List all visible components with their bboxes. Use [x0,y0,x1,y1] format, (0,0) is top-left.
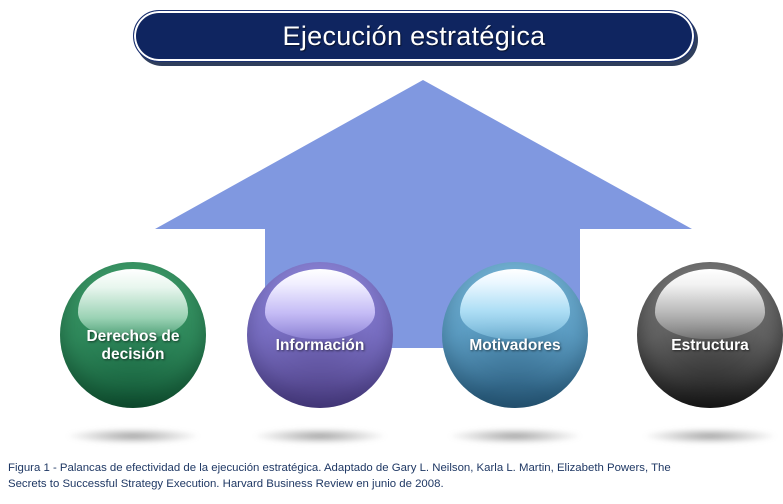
pillar-derechos-de-decision[interactable]: Derechos de decisión [60,262,206,408]
pillar-estructura[interactable]: Estructura [637,262,783,408]
figure-caption-line1: Figura 1 - Palancas de efectividad de la… [8,461,774,477]
sphere-shadow [644,428,776,444]
pillar-label-line2: decisión [102,346,165,363]
pillar-label: Motivadores [461,337,568,355]
page-title: Ejecución estratégica [283,21,546,52]
pillar-label: Derechos de decisión [78,328,187,365]
figure-caption: Figura 1 - Palancas de efectividad de la… [8,461,774,492]
up-arrow-shape [155,80,692,348]
sphere-shadow [449,428,581,444]
pillar-informacion[interactable]: Información [247,262,393,408]
figure-caption-line2: Secrets to Successful Strategy Execution… [8,477,774,493]
sphere-shadow [67,428,199,444]
figure-title-banner: Ejecución estratégica [133,10,695,62]
pillar-label: Estructura [663,337,757,355]
pillar-label: Información [268,337,373,355]
figure-canvas: Ejecución estratégica Derechos de decisi… [0,0,783,504]
sphere-shadow [254,428,386,444]
pillar-motivadores[interactable]: Motivadores [442,262,588,408]
pillar-label-line1: Derechos de [86,328,179,345]
